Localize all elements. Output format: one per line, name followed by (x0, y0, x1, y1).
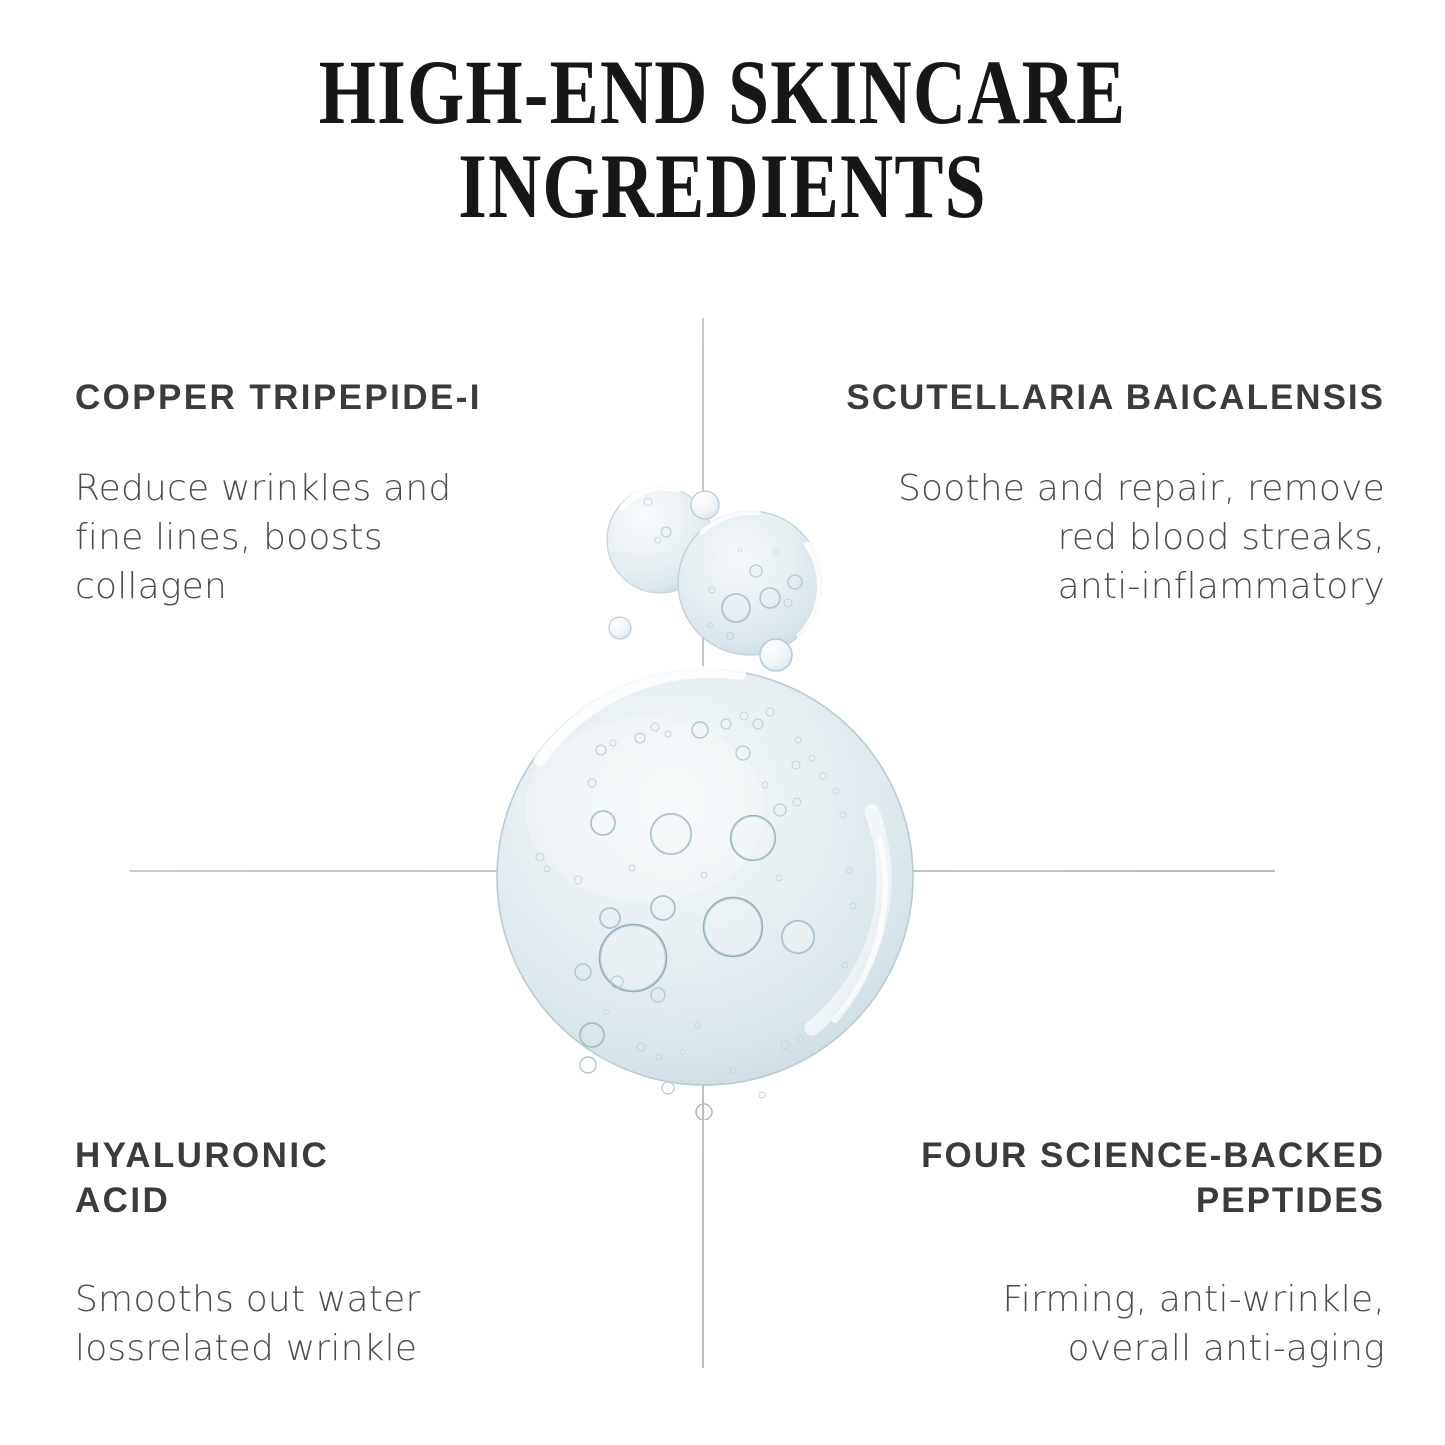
droplet-small-upper-left (607, 487, 713, 593)
page-title-line-2: INGREDIENTS (145, 140, 1301, 234)
droplet-tiny-bubbles (609, 491, 792, 671)
page-title: HIGH-END SKINCARE INGREDIENTS (145, 46, 1301, 234)
quadrant-bottom-left-heading: HYALURONIC ACID (75, 1134, 545, 1224)
quadrant-top-right-body: Soothe and repair, remove red blood stre… (800, 465, 1385, 612)
quadrant-top-right: SCUTELLARIA BAICALENSIS Soothe and repai… (800, 376, 1385, 612)
page-title-line-1: HIGH-END SKINCARE (145, 46, 1301, 140)
quadrant-bottom-right-body: Firming, anti-wrinkle, overall anti-agin… (830, 1276, 1385, 1374)
quadrant-bottom-left: HYALURONIC ACID Smooths out water lossre… (75, 1134, 545, 1374)
quadrant-top-left-heading: COPPER TRIPEPIDE-I (75, 376, 545, 421)
infographic-canvas: HIGH-END SKINCARE INGREDIENTS (0, 0, 1445, 1445)
droplet-main-large (497, 669, 913, 1120)
vertical-divider-line (702, 318, 704, 1368)
quadrant-bottom-left-body: Smooths out water lossrelated wrinkle (75, 1276, 545, 1374)
quadrant-bottom-right-heading: FOUR SCIENCE-BACKED PEPTIDES (830, 1134, 1385, 1224)
quadrant-top-right-heading: SCUTELLARIA BAICALENSIS (800, 376, 1385, 421)
horizontal-divider-line (130, 870, 1275, 872)
quadrant-bottom-right: FOUR SCIENCE-BACKED PEPTIDES Firming, an… (830, 1134, 1385, 1374)
quadrant-top-left: COPPER TRIPEPIDE-I Reduce wrinkles and f… (75, 376, 545, 612)
quadrant-top-left-body: Reduce wrinkles and fine lines, boosts c… (75, 465, 545, 612)
